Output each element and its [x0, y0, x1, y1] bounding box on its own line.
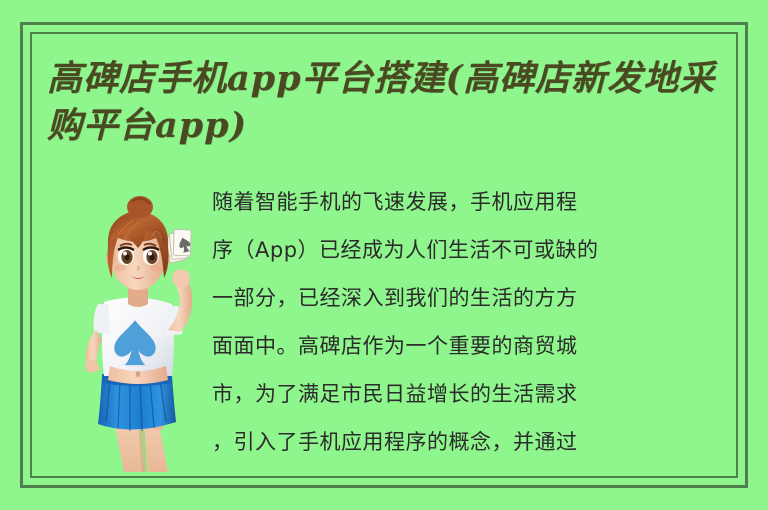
blush-right — [150, 265, 162, 272]
poster-canvas: 高碑店手机app平台搭建(高碑店新发地采购平台app) — [0, 0, 768, 510]
article-line: 市，为了满足市民日益增长的生活需求 — [212, 370, 740, 418]
anime-girl-svg — [52, 180, 212, 472]
article-body: 随着智能手机的飞速发展，手机应用程 序（App）已经成为人们生活不可或缺的 一部… — [212, 178, 740, 466]
blush-left — [114, 265, 126, 272]
article-line: 一部分，已经深入到我们的生活的方方 — [212, 274, 740, 322]
page-title: 高碑店手机app平台搭建(高碑店新发地采购平台app) — [47, 55, 747, 149]
eye-left — [118, 247, 134, 265]
article-line: 序（App）已经成为人们生活不可或缺的 — [212, 226, 740, 274]
article-line: ，引入了手机应用程序的概念，并通过 — [212, 418, 740, 466]
sleeve-left — [94, 304, 111, 334]
navel — [136, 371, 141, 377]
hand-right — [172, 269, 190, 288]
article-line: 面面中。高碑店作为一个重要的商贸城 — [212, 322, 740, 370]
hand-left-on-hip — [85, 360, 100, 373]
article-line: 随着智能手机的飞速发展，手机应用程 — [212, 178, 740, 226]
illustration-anime-girl — [52, 180, 212, 472]
eye-right — [143, 247, 159, 265]
